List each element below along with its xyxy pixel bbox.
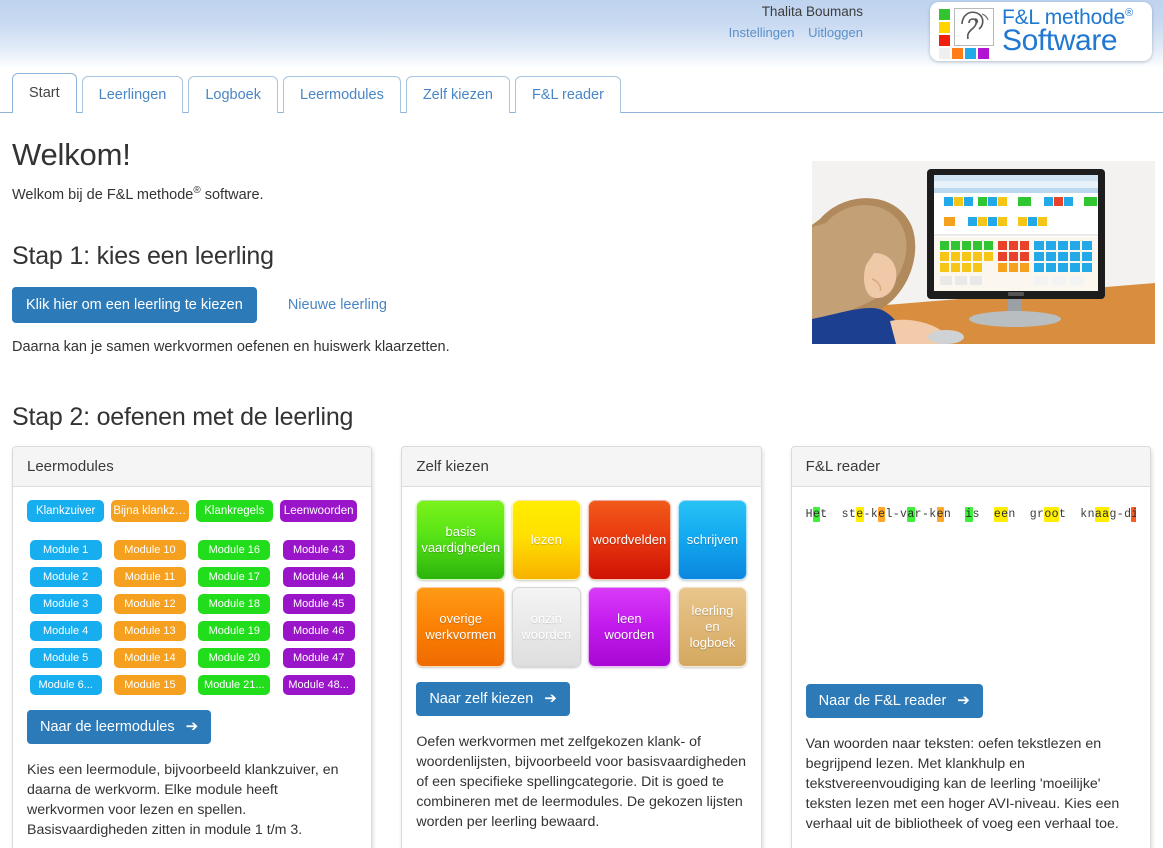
tab-logboek[interactable]: Logboek bbox=[188, 76, 278, 113]
hero-photo bbox=[812, 161, 1155, 344]
main-tabbar: Start Leerlingen Logboek Leermodules Zel… bbox=[0, 70, 1163, 113]
feature-cards: Leermodules Klankzuiver Bijna klankzuive… bbox=[12, 446, 1151, 848]
tab-zelf-kiezen[interactable]: Zelf kiezen bbox=[406, 76, 510, 113]
module-cell: Module 20 bbox=[196, 648, 273, 668]
module-button[interactable]: Module 19 bbox=[198, 621, 270, 641]
card-fl-reader-description: Van woorden naar teksten: oefen tekstlez… bbox=[806, 734, 1136, 834]
logo-square-blue bbox=[965, 48, 976, 59]
module-button[interactable]: Module 17 bbox=[198, 567, 270, 587]
module-cell: Module 16 bbox=[196, 540, 273, 560]
reader-word[interactable]: knaag-dier bbox=[1080, 508, 1136, 521]
card-zelf-kiezen-body: basis vaardigheden lezen woordvelden sch… bbox=[402, 487, 760, 848]
user-name: Thalita Boumans bbox=[643, 3, 863, 21]
module-button[interactable]: Module 1 bbox=[30, 540, 102, 560]
category-tiles: basis vaardigheden lezen woordvelden sch… bbox=[416, 500, 746, 667]
step2-title: Stap 2: oefenen met de leerling bbox=[12, 403, 1151, 432]
logo-square-green bbox=[939, 9, 950, 20]
module-button[interactable]: Module 13 bbox=[114, 621, 186, 641]
reader-plain: l-v bbox=[885, 508, 907, 521]
tile-woordvelden[interactable]: woordvelden bbox=[588, 500, 672, 580]
module-button[interactable]: Module 47 bbox=[283, 648, 355, 668]
tile-schrijven[interactable]: schrijven bbox=[678, 500, 746, 580]
module-button[interactable]: Module 10 bbox=[114, 540, 186, 560]
reader-word[interactable]: is bbox=[965, 508, 980, 521]
reader-plain: st bbox=[842, 508, 857, 521]
card-zelf-kiezen-title: Zelf kiezen bbox=[402, 447, 760, 487]
logo-square-yellow bbox=[939, 22, 950, 33]
reader-text-preview: Hetste-kel-var-keniseengrootknaag-dierme… bbox=[806, 500, 1136, 669]
module-button[interactable]: Module 11 bbox=[114, 567, 186, 587]
tab-leerlingen[interactable]: Leerlingen bbox=[82, 76, 184, 113]
card-leermodules: Leermodules Klankzuiver Bijna klankzuive… bbox=[12, 446, 372, 848]
go-to-fl-reader-label: Naar de F&L reader bbox=[819, 693, 947, 709]
module-button[interactable]: Module 21... bbox=[198, 675, 270, 695]
module-grid: Klankzuiver Bijna klankzuiver Klankregel… bbox=[27, 500, 357, 695]
module-button[interactable]: Module 4 bbox=[30, 621, 102, 641]
module-category-klankregels[interactable]: Klankregels bbox=[196, 500, 273, 522]
module-cell: Module 4 bbox=[27, 621, 104, 641]
module-cell: Module 18 bbox=[196, 594, 273, 614]
card-leermodules-body: Klankzuiver Bijna klankzuiver Klankregel… bbox=[13, 487, 371, 848]
module-cell: Module 17 bbox=[196, 567, 273, 587]
logo-text: F&L methode® Software bbox=[999, 7, 1144, 56]
reader-plain: gr bbox=[1030, 508, 1045, 521]
new-student-link[interactable]: Nieuwe leerling bbox=[288, 297, 387, 313]
module-cell: Module 48... bbox=[280, 675, 357, 695]
module-cell: Module 44 bbox=[280, 567, 357, 587]
logo-square-red bbox=[939, 35, 950, 46]
reader-highlight-green: i bbox=[965, 507, 972, 522]
go-to-zelf-kiezen-label: Naar zelf kiezen bbox=[429, 691, 533, 707]
module-cell: Module 14 bbox=[111, 648, 188, 668]
go-to-leermodules-label: Naar de leermodules bbox=[40, 719, 175, 735]
module-grid-spacer bbox=[27, 529, 357, 533]
module-category-bijna-klankzuiver[interactable]: Bijna klankzuiver bbox=[111, 500, 188, 522]
reader-highlight-red: ie bbox=[1131, 507, 1136, 522]
module-cell: Module 10 bbox=[111, 540, 188, 560]
tab-leermodules[interactable]: Leermodules bbox=[283, 76, 401, 113]
intro-registered-mark: ® bbox=[193, 185, 200, 196]
tile-overige-werkvormen[interactable]: overige werkvormen bbox=[416, 587, 505, 667]
card-fl-reader-body: Hetste-kel-var-keniseengrootknaag-dierme… bbox=[792, 487, 1150, 848]
tab-start[interactable]: Start bbox=[12, 73, 77, 113]
card-fl-reader-title: F&L reader bbox=[792, 447, 1150, 487]
app-logo[interactable]: F&L methode® Software bbox=[930, 2, 1152, 61]
page-header: Thalita Boumans Instellingen Uitloggen bbox=[0, 0, 1163, 70]
intro-before: Welkom bij de F&L methode bbox=[12, 187, 193, 203]
user-links: Instellingen Uitloggen bbox=[643, 24, 863, 41]
logo-line2: Software bbox=[1002, 26, 1144, 56]
reader-plain: n bbox=[1008, 508, 1015, 521]
tile-onzinwoorden[interactable]: onzin woorden bbox=[512, 587, 580, 667]
module-cell: Module 19 bbox=[196, 621, 273, 641]
user-block: Thalita Boumans Instellingen Uitloggen bbox=[643, 3, 863, 41]
arrow-right-icon: ➔ bbox=[186, 719, 199, 734]
module-cell: Module 5 bbox=[27, 648, 104, 668]
module-button[interactable]: Module 48... bbox=[283, 675, 355, 695]
reader-word[interactable]: een bbox=[994, 508, 1016, 521]
card-fl-reader: F&L reader Hetste-kel-var-keniseengrootk… bbox=[791, 446, 1151, 848]
reader-plain: t bbox=[1059, 508, 1066, 521]
reader-plain: g-d bbox=[1109, 508, 1131, 521]
reader-plain: r-k bbox=[915, 508, 937, 521]
go-to-leermodules-button[interactable]: Naar de leermodules ➔ bbox=[27, 710, 211, 744]
module-cell: Module 3 bbox=[27, 594, 104, 614]
tile-leenwoorden[interactable]: leen woorden bbox=[588, 587, 672, 667]
module-cell: Module 1 bbox=[27, 540, 104, 560]
logo-square-white bbox=[939, 48, 950, 59]
tab-fl-reader[interactable]: F&L reader bbox=[515, 76, 621, 113]
go-to-zelf-kiezen-button[interactable]: Naar zelf kiezen ➔ bbox=[416, 682, 570, 716]
ear-icon bbox=[954, 8, 994, 46]
card-zelf-kiezen: Zelf kiezen basis vaardigheden lezen woo… bbox=[401, 446, 761, 848]
module-button[interactable]: Module 46 bbox=[283, 621, 355, 641]
module-button[interactable]: Module 20 bbox=[198, 648, 270, 668]
reader-highlight-orange: e bbox=[937, 507, 944, 522]
module-button[interactable]: Module 5 bbox=[30, 648, 102, 668]
reader-word[interactable]: ste-kel-var-ken bbox=[842, 508, 952, 521]
go-to-fl-reader-button[interactable]: Naar de F&L reader ➔ bbox=[806, 684, 983, 718]
reader-highlight-green: a bbox=[907, 507, 914, 522]
tile-basisvaardigheden[interactable]: basis vaardigheden bbox=[416, 500, 505, 580]
module-button[interactable]: Module 14 bbox=[114, 648, 186, 668]
module-cell: Module 12 bbox=[111, 594, 188, 614]
reader-word[interactable]: groot bbox=[1030, 508, 1067, 521]
arrow-right-icon: ➔ bbox=[957, 693, 970, 708]
reader-plain: s bbox=[973, 508, 980, 521]
reader-plain: -k bbox=[864, 508, 879, 521]
tile-lezen[interactable]: lezen bbox=[512, 500, 580, 580]
reader-highlight-yellow: oo bbox=[1044, 507, 1059, 522]
module-button[interactable]: Module 44 bbox=[283, 567, 355, 587]
logo-color-squares bbox=[939, 7, 999, 56]
reader-plain: kn bbox=[1080, 508, 1095, 521]
module-cell: Module 45 bbox=[280, 594, 357, 614]
intro-after: software. bbox=[201, 187, 264, 203]
reader-highlight-yellow: e bbox=[856, 507, 863, 522]
main-content: Welkom! Welkom bij de F&L methode® softw… bbox=[0, 137, 1163, 848]
card-leermodules-description: Kies een leermodule, bijvoorbeeld klankz… bbox=[27, 760, 357, 840]
module-cell: Module 13 bbox=[111, 621, 188, 641]
logout-link[interactable]: Uitloggen bbox=[808, 25, 863, 40]
module-cell: Module 47 bbox=[280, 648, 357, 668]
module-button[interactable]: Module 3 bbox=[30, 594, 102, 614]
module-cell: Module 43 bbox=[280, 540, 357, 560]
module-button[interactable]: Module 2 bbox=[30, 567, 102, 587]
module-cell: Module 11 bbox=[111, 567, 188, 587]
module-cell: Module 46 bbox=[280, 621, 357, 641]
choose-student-button[interactable]: Klik hier om een leerling te kiezen bbox=[12, 287, 257, 323]
module-cell: Module 2 bbox=[27, 567, 104, 587]
card-zelf-kiezen-description: Oefen werkvormen met zelfgekozen klank- … bbox=[416, 732, 746, 832]
card-leermodules-title: Leermodules bbox=[13, 447, 371, 487]
logo-square-purple bbox=[978, 48, 989, 59]
module-button[interactable]: Module 6... bbox=[30, 675, 102, 695]
reader-plain: H bbox=[806, 508, 813, 521]
settings-link[interactable]: Instellingen bbox=[729, 25, 795, 40]
reader-word[interactable]: Het bbox=[806, 508, 828, 521]
module-category-leenwoorden[interactable]: Leenwoorden bbox=[280, 500, 357, 522]
module-button[interactable]: Module 15 bbox=[114, 675, 186, 695]
module-category-klankzuiver[interactable]: Klankzuiver bbox=[27, 500, 104, 522]
module-button[interactable]: Module 12 bbox=[114, 594, 186, 614]
module-cell: Module 15 bbox=[111, 675, 188, 695]
reader-plain: t bbox=[820, 508, 827, 521]
reader-plain: n bbox=[944, 508, 951, 521]
tile-leerling-en-logboek[interactable]: leerling en logboek bbox=[678, 587, 746, 667]
module-cell: Module 6... bbox=[27, 675, 104, 695]
module-button[interactable]: Module 45 bbox=[283, 594, 355, 614]
reader-highlight-yellow: aa bbox=[1095, 507, 1110, 522]
module-button[interactable]: Module 18 bbox=[198, 594, 270, 614]
module-button[interactable]: Module 16 bbox=[198, 540, 270, 560]
module-cell: Module 21... bbox=[196, 675, 273, 695]
arrow-right-icon: ➔ bbox=[544, 691, 557, 706]
reader-highlight-yellow: ee bbox=[994, 507, 1009, 522]
logo-registered-mark: ® bbox=[1125, 7, 1133, 19]
module-button[interactable]: Module 43 bbox=[283, 540, 355, 560]
logo-square-orange bbox=[952, 48, 963, 59]
